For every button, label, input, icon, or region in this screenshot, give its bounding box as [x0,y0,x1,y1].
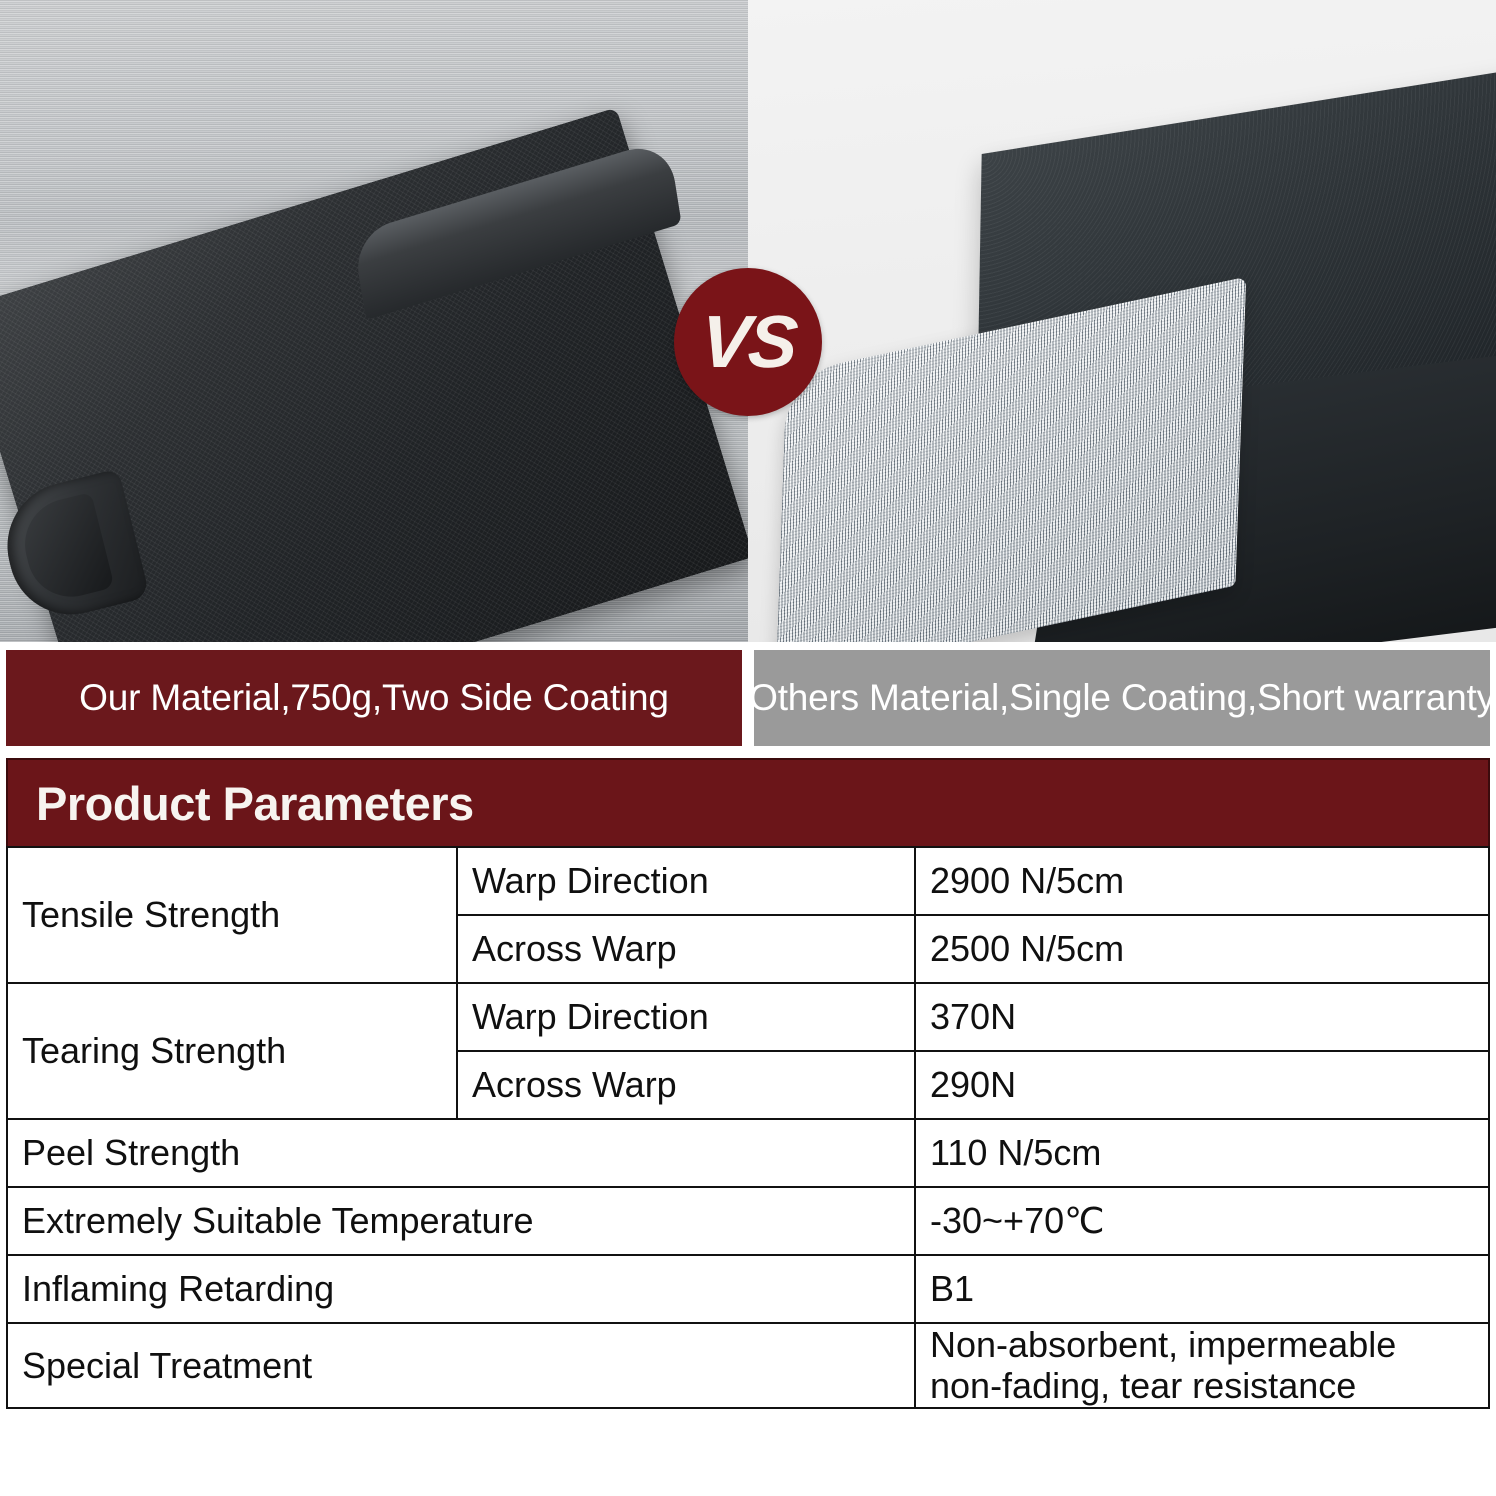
our-material-photo [0,0,748,642]
param-value-peel-strength: 110 N/5cm [915,1119,1489,1187]
product-parameters-table: Tensile Strength Warp Direction 2900 N/5… [6,846,1490,1409]
product-parameters-title: Product Parameters [36,776,474,831]
param-value-inflaming-retarding: B1 [915,1255,1489,1323]
param-value-special-treatment-line1: Non-absorbent, impermeable [930,1324,1474,1365]
param-value-special-treatment-line2: non-fading, tear resistance [930,1365,1474,1406]
param-value-tensile-across: 2500 N/5cm [915,915,1489,983]
others-material-photo [748,0,1496,642]
table-row: Peel Strength 110 N/5cm [7,1119,1489,1187]
param-value-tearing-across: 290N [915,1051,1489,1119]
table-row: Tearing Strength Warp Direction 370N [7,983,1489,1051]
param-sub-tensile-warp: Warp Direction [457,847,915,915]
others-material-caption: Others Material,Single Coating,Short war… [754,650,1490,746]
param-sub-tearing-across: Across Warp [457,1051,915,1119]
param-value-tearing-warp: 370N [915,983,1489,1051]
vs-badge-label: VS [698,305,798,379]
table-row: Extremely Suitable Temperature -30~+70℃ [7,1187,1489,1255]
table-row: Inflaming Retarding B1 [7,1255,1489,1323]
vs-badge: VS [674,268,822,416]
product-parameters-section: Product Parameters Tensile Strength Warp… [0,752,1496,1415]
comparison-panel-others-material: Others Material,Single Coating,Short war… [748,0,1496,752]
param-value-special-treatment: Non-absorbent, impermeable non-fading, t… [915,1323,1489,1408]
param-value-suitable-temperature: -30~+70℃ [915,1187,1489,1255]
param-label-tearing-strength: Tearing Strength [7,983,457,1119]
param-label-special-treatment: Special Treatment [7,1323,915,1408]
table-row: Tensile Strength Warp Direction 2900 N/5… [7,847,1489,915]
our-material-caption: Our Material,750g,Two Side Coating [6,650,742,746]
param-value-tensile-warp: 2900 N/5cm [915,847,1489,915]
param-label-inflaming-retarding: Inflaming Retarding [7,1255,915,1323]
product-parameters-header: Product Parameters [6,758,1490,846]
param-label-tensile-strength: Tensile Strength [7,847,457,983]
param-label-peel-strength: Peel Strength [7,1119,915,1187]
param-sub-tearing-warp: Warp Direction [457,983,915,1051]
param-label-suitable-temperature: Extremely Suitable Temperature [7,1187,915,1255]
material-comparison-section: Our Material,750g,Two Side Coating Other… [0,0,1496,752]
table-row: Special Treatment Non-absorbent, imperme… [7,1323,1489,1408]
comparison-panel-our-material: Our Material,750g,Two Side Coating [0,0,748,752]
param-sub-tensile-across: Across Warp [457,915,915,983]
uncoated-woven-mesh-underside [776,277,1247,642]
